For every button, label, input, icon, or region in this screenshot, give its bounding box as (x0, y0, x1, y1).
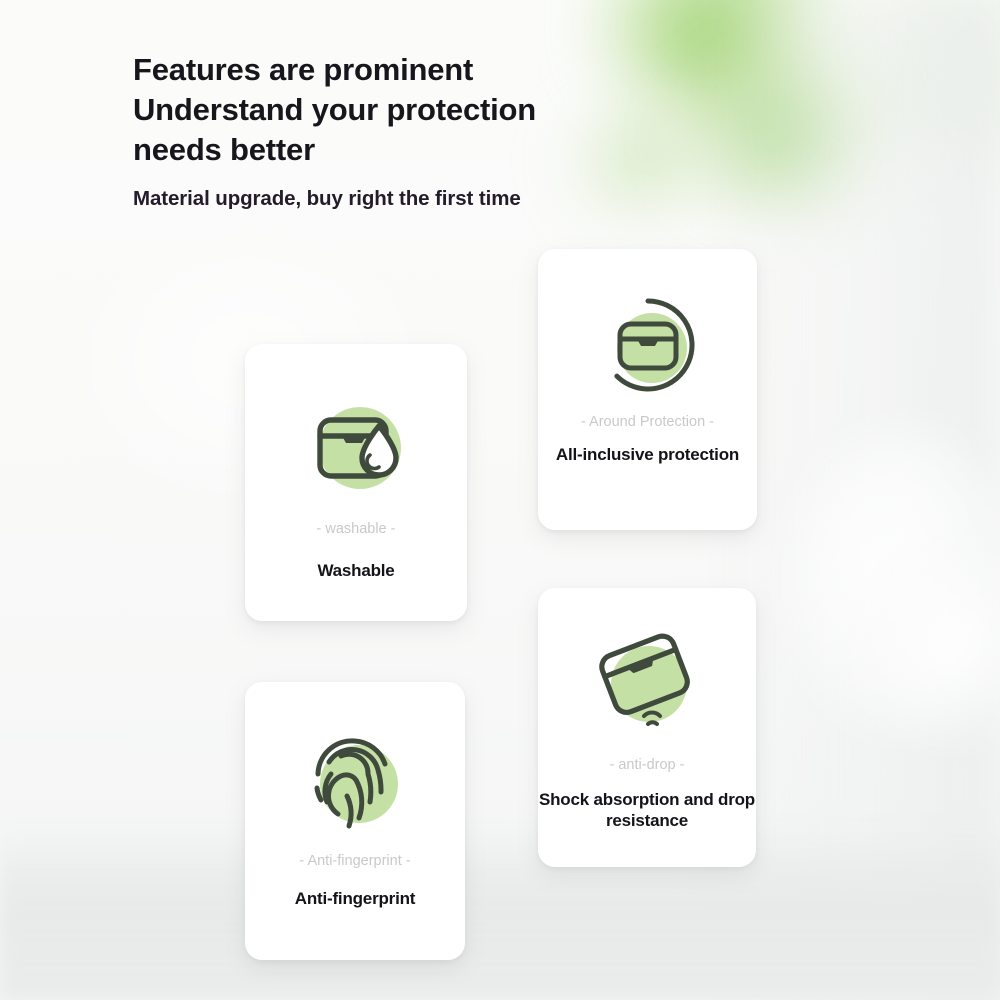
tilted-case-with-impact-waves-icon (594, 632, 700, 736)
icon-container (591, 628, 703, 740)
feature-card-anti-fingerprint[interactable]: - Anti-fingerprint - Anti-fingerprint (245, 682, 465, 960)
feature-tagline: - Around Protection - (581, 413, 714, 431)
page-title: Features are prominent Understand your p… (133, 50, 753, 170)
feature-tagline: - anti-drop - (610, 756, 685, 774)
feature-card-washable[interactable]: - washable - Washable (245, 344, 467, 621)
case-in-protective-ring-icon (596, 293, 700, 397)
feature-title: Shock absorption and drop resistance (538, 789, 756, 831)
case-with-water-drop-icon (302, 398, 410, 498)
icon-container (592, 289, 704, 401)
feature-tagline: - washable - (317, 520, 396, 538)
feature-card-anti-drop[interactable]: - anti-drop - Shock absorption and drop … (538, 588, 756, 867)
background-surface-band (0, 840, 1000, 1000)
feature-card-around-protection[interactable]: - Around Protection - All-inclusive prot… (538, 249, 757, 530)
feature-title: Washable (317, 560, 394, 581)
icon-container (300, 392, 412, 504)
feature-title: All-inclusive protection (556, 444, 739, 465)
feature-tagline: - Anti-fingerprint - (299, 852, 410, 870)
feature-title: Anti-fingerprint (295, 888, 416, 909)
page-subtitle: Material upgrade, buy right the first ti… (133, 186, 753, 212)
icon-container (299, 726, 411, 838)
heading-block: Features are prominent Understand your p… (133, 50, 753, 212)
infographic-stage: Features are prominent Understand your p… (0, 0, 1000, 1000)
fingerprint-icon (305, 730, 405, 834)
